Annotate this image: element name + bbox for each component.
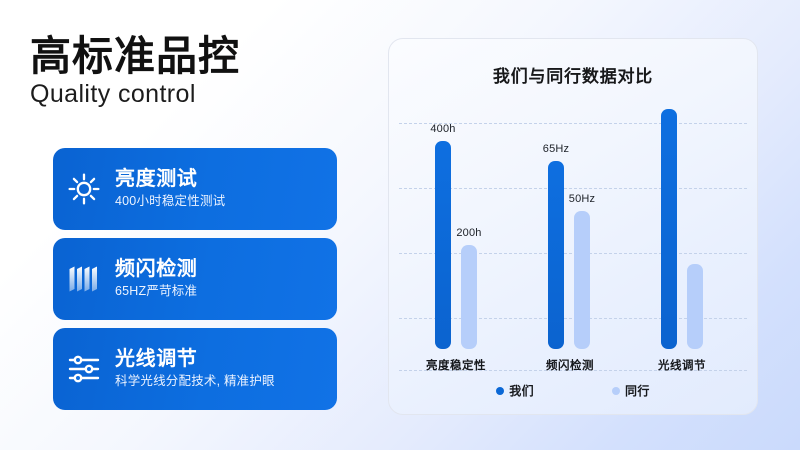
feature-card-subtitle: 65HZ严苛标准: [115, 283, 197, 300]
page-title-cn: 高标准品控: [30, 34, 240, 78]
legend-dot-peer: [612, 387, 620, 395]
sun-icon: [53, 148, 115, 230]
bar-peer-2[interactable]: [687, 264, 703, 349]
bar-value-label-us-1: 65Hz: [526, 143, 586, 155]
legend-label-us: 我们: [509, 382, 534, 399]
feature-card-brightness[interactable]: 亮度测试 400小时稳定性测试: [53, 148, 337, 230]
chart-legend: 我们 同行: [389, 382, 757, 399]
category-label-0: 亮度稳定性: [406, 357, 506, 373]
bar-peer-0[interactable]: [461, 245, 477, 349]
feature-card-light-adjust[interactable]: 光线调节 科学光线分配技术, 精准护眼: [53, 328, 337, 410]
bar-us-0[interactable]: [435, 141, 451, 349]
gridline: [399, 253, 747, 254]
page-title: 高标准品控 Quality control: [30, 34, 240, 109]
sliders-icon: [53, 328, 115, 410]
feature-card-list: 亮度测试 400小时稳定性测试: [53, 148, 337, 418]
bar-peer-1[interactable]: [574, 211, 590, 349]
category-label-1: 频闪检测: [527, 357, 613, 373]
feature-card-subtitle: 400小时稳定性测试: [115, 193, 225, 210]
page-title-en: Quality control: [30, 80, 240, 109]
legend-item-peer[interactable]: 同行: [612, 382, 650, 399]
bar-value-label-us-0: 400h: [413, 123, 473, 135]
feature-card-light-adjust-text: 光线调节 科学光线分配技术, 精准护眼: [115, 348, 281, 390]
feature-card-flicker[interactable]: 频闪检测 65HZ严苛标准: [53, 238, 337, 320]
bar-value-label-peer-1: 50Hz: [552, 193, 612, 205]
legend-dot-us: [496, 387, 504, 395]
bar-us-1[interactable]: [548, 161, 564, 349]
chart-plot-area: 400h 200h 亮度稳定性 65Hz 50Hz 频闪检测 光线调节: [389, 39, 757, 414]
feature-card-title: 光线调节: [115, 348, 275, 371]
bar-value-label-peer-0: 200h: [439, 227, 499, 239]
legend-item-us[interactable]: 我们: [496, 382, 534, 399]
feature-card-title: 亮度测试: [115, 168, 225, 191]
left-panel: 高标准品控 Quality control: [0, 0, 370, 450]
flicker-bars-icon: [53, 238, 115, 320]
feature-card-flicker-text: 频闪检测 65HZ严苛标准: [115, 258, 203, 300]
gridline: [399, 188, 747, 189]
feature-card-subtitle: 科学光线分配技术, 精准护眼: [115, 373, 275, 390]
legend-label-peer: 同行: [625, 382, 650, 399]
bar-us-2[interactable]: [661, 109, 677, 349]
comparison-chart-panel: 我们与同行数据对比 400h 200h 亮度稳定性 65Hz 50Hz 频闪检测…: [388, 38, 758, 415]
feature-card-brightness-text: 亮度测试 400小时稳定性测试: [115, 168, 231, 210]
feature-card-title: 频闪检测: [115, 258, 197, 281]
category-label-2: 光线调节: [639, 357, 725, 373]
